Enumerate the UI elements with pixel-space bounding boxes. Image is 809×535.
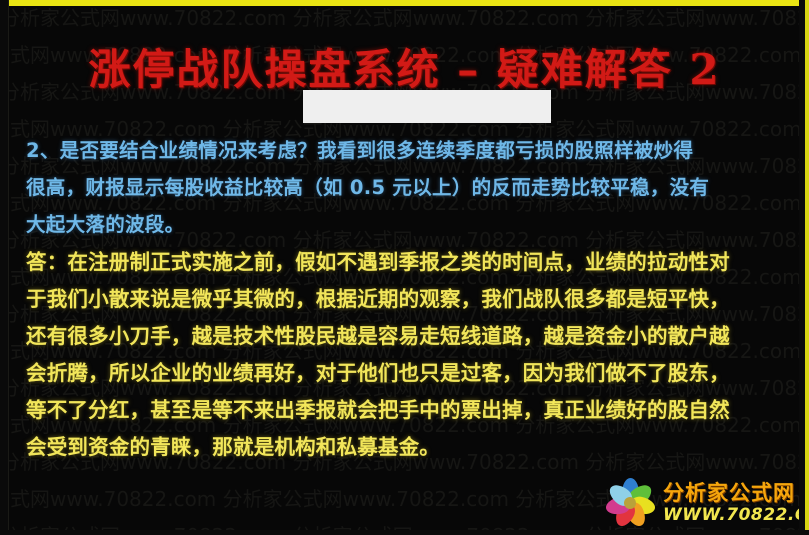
frame-border-top [0,0,809,6]
answer-line: 于我们小散来说是微乎其微的，根据近期的观察，我们战队很多都是短平快， [26,281,794,318]
logo-text-group: 分析家公式网 WWW.70822.COM [663,481,809,526]
question-paragraph: 2、是否要结合业绩情况来考虑？我看到很多连续季度都亏损的股照样被炒得 很高，财报… [26,132,788,243]
site-watermark-logo[interactable]: 分析家公式网 WWW.70822.COM [603,474,799,532]
frame-border-right-accent [805,0,809,535]
question-line: 很高，财报显示每股收益比较高（如 0.5 元以上）的反而走势比较平稳，没有 [26,169,788,206]
redaction-bar [303,90,551,123]
page-title: 涨停战队操盘系统 – 疑难解答 2 [0,36,809,97]
question-line: 大起大落的波段。 [26,206,788,243]
answer-line: 会受到资金的青睐，那就是机构和私募基金。 [26,429,794,466]
slide-screen: 分析家公式网www.70822.com 分析家公式网www.70822.com … [0,0,809,535]
question-line: 2、是否要结合业绩情况来考虑？我看到很多连续季度都亏损的股照样被炒得 [26,132,788,169]
answer-line: 会折腾，所以企业的业绩再好，对于他们也只是过客，因为我们做不了股东， [26,355,794,392]
flower-center [624,497,636,509]
answer-line: 还有很多小刀手，越是技术性股民越是容易走短线道路，越是资金小的散户越 [26,318,794,355]
slide-content: 涨停战队操盘系统 – 疑难解答 2 2、是否要结合业绩情况来考虑？我看到很多连续… [0,0,809,535]
frame-border-bottom [0,530,809,535]
frame-border-left [0,0,9,535]
answer-paragraph: 答：在注册制正式实施之前，假如不遇到季报之类的时间点，业绩的拉动性对 于我们小散… [26,244,794,466]
site-name: 分析家公式网 [663,481,809,505]
site-url: WWW.70822.COM [663,505,809,526]
answer-line: 等不了分红，甚至是等不来出季报就会把手中的票出掉，真正业绩好的股自然 [26,392,794,429]
flower-icon [603,476,659,530]
answer-line: 答：在注册制正式实施之前，假如不遇到季报之类的时间点，业绩的拉动性对 [26,244,794,281]
